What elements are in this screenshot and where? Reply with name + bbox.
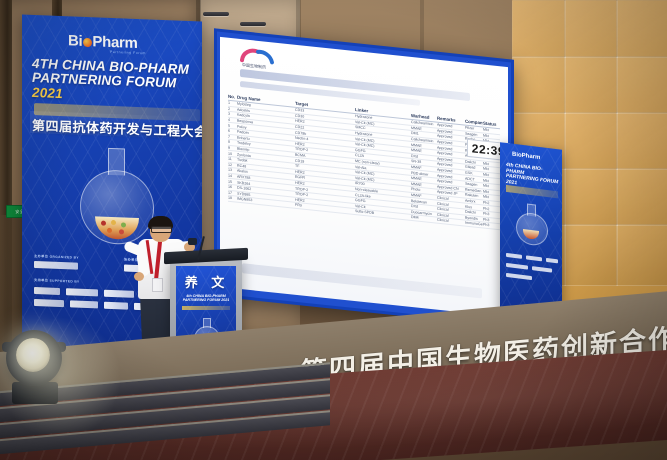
headline-year: 2021 xyxy=(32,85,63,101)
sponsor-logo xyxy=(70,300,98,308)
table-cell: 10 xyxy=(228,151,237,157)
drug-table: No. Drug Name Target Linker Warhead Rema… xyxy=(228,94,500,230)
podium-english-headline: 4th CHINA BIO-PHARM PARTNERING FORUM 202… xyxy=(181,294,231,303)
table-cell: Ph3 xyxy=(483,223,500,229)
presentation-clicker xyxy=(188,238,197,245)
speaker-glasses-icon xyxy=(151,226,172,233)
speaker-hand-left xyxy=(134,272,144,281)
table-cell: 4 xyxy=(228,117,237,123)
arc-logo-icon: 中国生物制药 xyxy=(236,47,282,72)
table-cell: 18 xyxy=(228,196,237,202)
table-cell: 1 xyxy=(228,101,237,107)
table-cell: 13 xyxy=(228,168,237,174)
banner-headline-english: 4TH CHINA BIO-PHARM PARTNERING FORUM 202… xyxy=(32,57,202,106)
podium-headline-line-2: PARTNERING FORUM 2021 xyxy=(181,298,231,302)
podium-chinese-band xyxy=(182,306,230,310)
table-cell: 11 xyxy=(228,157,237,163)
sponsor-logo xyxy=(66,288,98,296)
side-flask-illustration xyxy=(516,202,546,250)
table-cell: 3 xyxy=(228,112,237,118)
moving-head-stage-light xyxy=(6,330,62,386)
table-cell: 2 xyxy=(228,106,237,112)
th-company: Company xyxy=(465,119,483,126)
stage-light-lens xyxy=(16,338,50,372)
table-cell: 6 xyxy=(228,129,237,135)
table-cell: 14 xyxy=(228,173,237,179)
table-cell: 5 xyxy=(228,123,237,129)
table-cell: 15 xyxy=(228,179,237,185)
table-cell: 12 xyxy=(228,162,237,168)
table-cell: 16 xyxy=(228,185,237,191)
led-presentation-screen: 中国生物制药 No. Drug Name Target Linker Warhe… xyxy=(214,28,514,328)
th-status: Status xyxy=(483,121,500,128)
presentation-slide: 中国生物制药 No. Drug Name Target Linker Warhe… xyxy=(220,37,508,317)
side-event-banner: BioPharm 4th CHINA BIO-PHARM PARTNERING … xyxy=(500,142,562,322)
table-cell: 8 xyxy=(228,140,237,146)
logo-bio-text: Bi xyxy=(68,32,82,50)
air-vent-icon xyxy=(203,12,229,16)
th-no: No. xyxy=(228,94,237,100)
logo-dot-icon xyxy=(83,38,92,47)
speaker-badge xyxy=(152,278,163,292)
podium-chinese-text: 养 文 xyxy=(182,272,232,291)
table-cell: 7 xyxy=(228,134,237,140)
conference-stage-photo: 安全出口 BiPharm Partnering Forum 4TH CHINA … xyxy=(0,0,667,460)
sponsor-logo xyxy=(34,287,60,295)
sponsor-logo xyxy=(34,299,64,307)
table-cell: 9 xyxy=(228,145,237,151)
biopharm-logo: BiPharm xyxy=(68,32,138,52)
air-vent-icon xyxy=(240,22,266,26)
table-cell: ImmunoGen xyxy=(465,221,483,227)
svg-text:中国生物制药: 中国生物制药 xyxy=(242,61,266,69)
table-cell: 17 xyxy=(228,190,237,196)
